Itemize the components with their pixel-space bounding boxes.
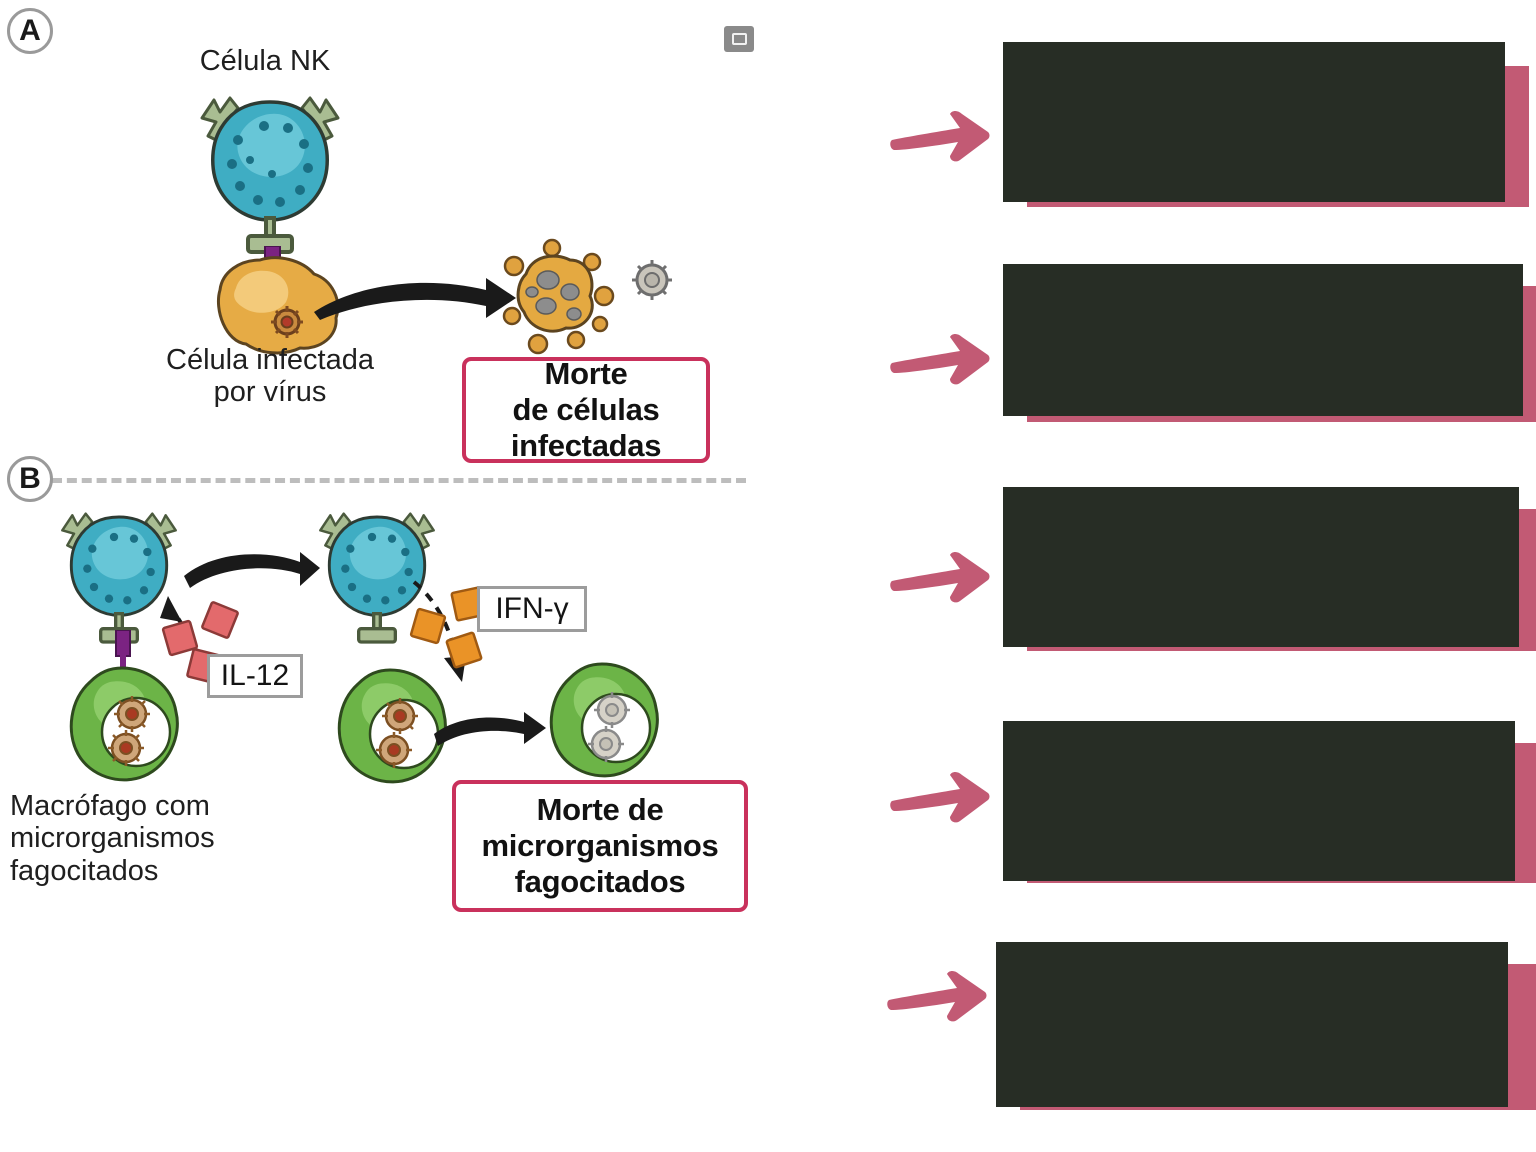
redacted-item-4-block xyxy=(1003,721,1515,881)
redacted-item-5-block xyxy=(996,942,1508,1107)
pointer-arrow-4 xyxy=(888,765,992,827)
redacted-item-1-block xyxy=(1003,42,1505,202)
pointer-arrow-2 xyxy=(888,327,992,389)
pointer-arrow-5 xyxy=(885,964,989,1026)
pointer-arrow-3 xyxy=(888,545,992,607)
redacted-item-3-block xyxy=(1003,487,1519,647)
redacted-annotation-list xyxy=(0,0,1536,1152)
pointer-arrow-1 xyxy=(888,104,992,166)
redacted-item-2-block xyxy=(1003,264,1523,416)
